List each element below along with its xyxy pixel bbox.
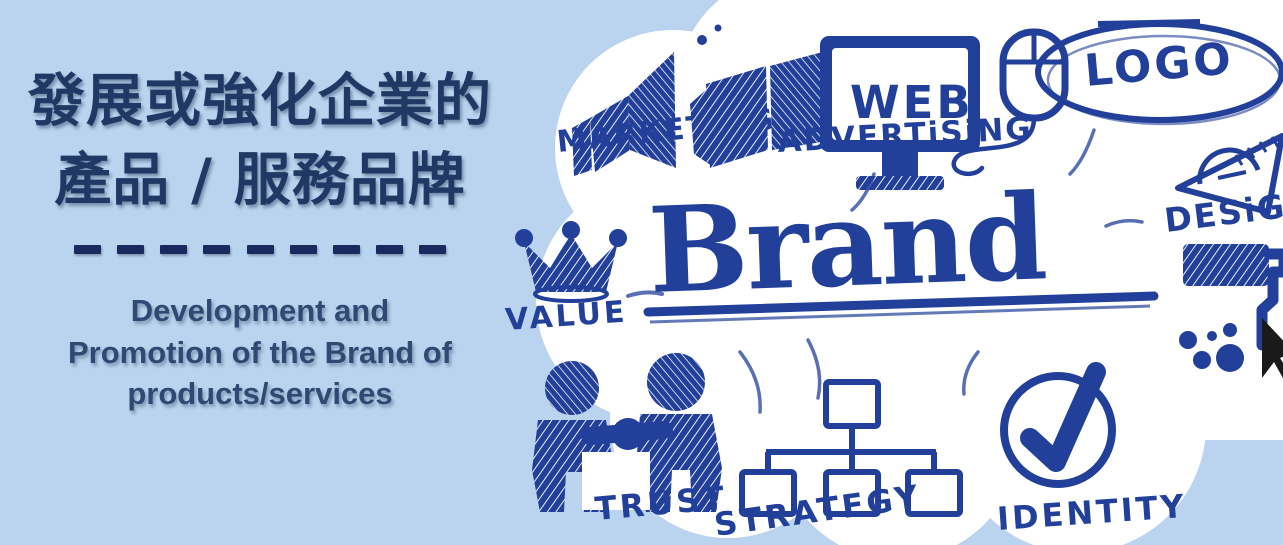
page-title: 發展或強化企業的 產品 / 服務品牌 — [28, 62, 492, 219]
headline-line-2: 產品 / 服務品牌 — [28, 141, 492, 220]
subtitle-line-3: products/services — [68, 373, 452, 414]
subtitle-line-2: Promotion of the Brand of — [68, 332, 452, 373]
divider-dash — [160, 245, 187, 254]
divider-dash — [290, 245, 317, 254]
text-panel: 發展或強化企業的 產品 / 服務品牌 Development and Promo… — [0, 0, 520, 545]
subtitle-line-1: Development and — [68, 290, 452, 331]
page-subtitle: Development and Promotion of the Brand o… — [68, 290, 452, 414]
divider-dash — [247, 245, 274, 254]
divider-dash — [419, 245, 446, 254]
brand-banner: 發展或強化企業的 產品 / 服務品牌 Development and Promo… — [0, 0, 1283, 545]
divider-dash — [117, 245, 144, 254]
divider-dash — [203, 245, 230, 254]
headline-line-1: 發展或強化企業的 — [28, 62, 492, 141]
divider-dash — [333, 245, 360, 254]
dashed-divider — [74, 245, 446, 254]
brand-cloud-illustration: MARKETING WEB ADVERTiS — [478, 0, 1283, 545]
divider-dash — [376, 245, 403, 254]
divider-dash — [74, 245, 101, 254]
